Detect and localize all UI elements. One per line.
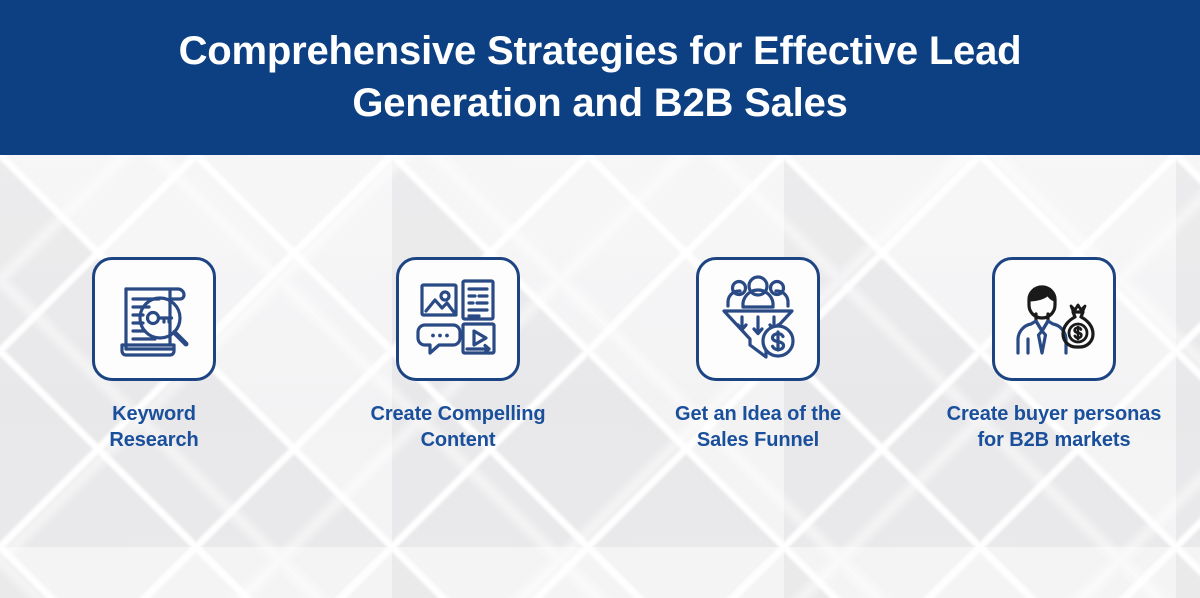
step-label-keyword-research: Keyword Research — [109, 401, 198, 454]
step-sales-funnel[interactable]: Get an Idea of the Sales Funnel — [608, 257, 908, 454]
step-create-compelling-content[interactable]: Create Compelling Content — [308, 257, 608, 454]
icon-card-keyword-research[interactable] — [92, 257, 216, 381]
step-label-create-compelling-content: Create Compelling Content — [371, 401, 546, 454]
businessman-money-bag-icon — [1008, 273, 1100, 365]
step-label-buyer-personas: Create buyer personas for B2B markets — [947, 401, 1162, 454]
icon-card-create-compelling-content[interactable] — [396, 257, 520, 381]
document-magnifier-key-icon — [108, 273, 200, 365]
people-funnel-dollar-icon — [712, 273, 804, 365]
steps-row: Keyword Research — [0, 257, 1200, 454]
step-label-sales-funnel: Get an Idea of the Sales Funnel — [675, 401, 841, 454]
step-buyer-personas[interactable]: Create buyer personas for B2B markets — [908, 257, 1200, 454]
header-banner: Comprehensive Strategies for Effective L… — [0, 0, 1200, 155]
step-keyword-research[interactable]: Keyword Research — [0, 257, 308, 454]
page-title: Comprehensive Strategies for Effective L… — [70, 26, 1130, 128]
infographic-canvas: Comprehensive Strategies for Effective L… — [0, 0, 1200, 598]
icon-card-sales-funnel[interactable] — [696, 257, 820, 381]
content-grid-icon — [412, 273, 504, 365]
icon-card-buyer-personas[interactable] — [992, 257, 1116, 381]
